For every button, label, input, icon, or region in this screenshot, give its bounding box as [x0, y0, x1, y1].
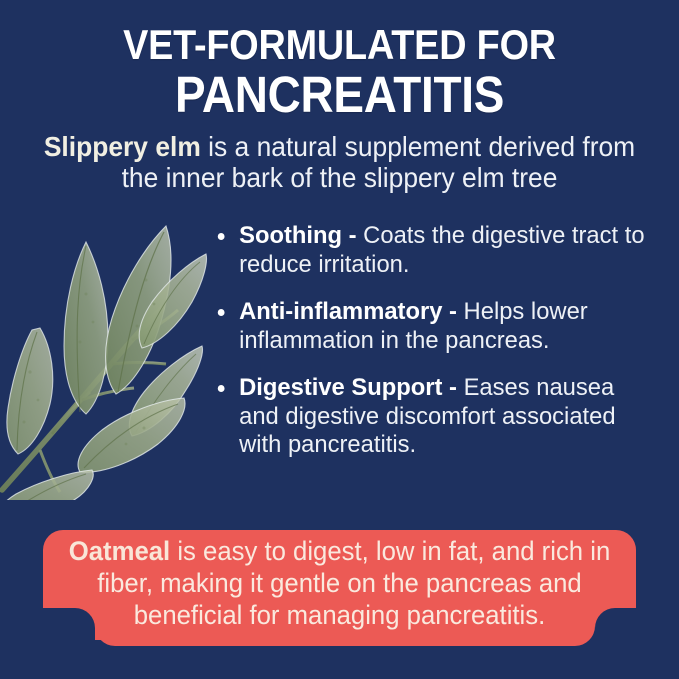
- subtitle-paragraph: Slippery elm is a natural supplement der…: [35, 131, 645, 193]
- bullet-lead-label: Anti-inflammatory -: [239, 298, 457, 325]
- bullet-dot-icon: [218, 233, 225, 240]
- list-item: Anti-inflammatory - Helps lower inflamma…: [210, 298, 658, 355]
- oatmeal-callout-box: Oatmeal is easy to digest, low in fat, a…: [0, 524, 679, 652]
- list-item: Soothing - Coats the digestive tract to …: [210, 222, 658, 279]
- benefits-list: Soothing - Coats the digestive tract to …: [210, 222, 672, 460]
- bullet-lead-label: Digestive Support -: [239, 374, 463, 401]
- callout-rest-text: is easy to digest, low in fat, and rich …: [97, 536, 610, 630]
- title-line-1: VET-FORMULATED FOR: [34, 22, 645, 68]
- bullet-lead-label: Soothing -: [239, 222, 363, 249]
- subtitle-bold-lead: Slippery elm: [44, 131, 201, 162]
- list-item: Digestive Support - Eases nausea and dig…: [210, 374, 658, 460]
- callout-bold-lead: Oatmeal: [69, 536, 170, 566]
- callout-paragraph: Oatmeal is easy to digest, low in fat, a…: [61, 535, 619, 631]
- bullet-dot-icon: [218, 385, 225, 392]
- bullet-dot-icon: [218, 309, 225, 316]
- leaf-branch-illustration: [0, 222, 209, 500]
- page-title: VET-FORMULATED FOR PANCREATITIS: [0, 22, 679, 122]
- title-line-2: PANCREATITIS: [34, 68, 645, 122]
